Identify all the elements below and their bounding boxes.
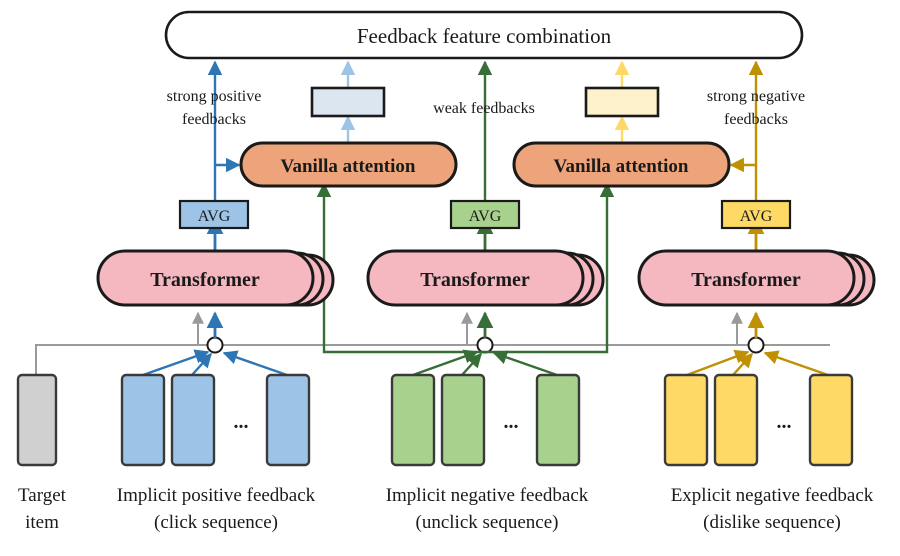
vanilla-attention-right-label: Vanilla attention bbox=[554, 156, 689, 177]
svg-text:feedbacks: feedbacks bbox=[182, 111, 246, 128]
architecture-diagram: Feedback feature combination strong posi… bbox=[0, 0, 900, 556]
input-box-click-1[interactable] bbox=[122, 375, 164, 465]
input-box-unclick-2[interactable] bbox=[442, 375, 484, 465]
ellipsis-implicit-positive: ... bbox=[234, 411, 249, 433]
transformer-positive-label: Transformer bbox=[150, 269, 260, 291]
vanilla-attention-right[interactable]: Vanilla attention bbox=[514, 143, 729, 186]
caption-implicit-positive: Implicit positive feedback (click sequen… bbox=[117, 485, 316, 533]
input-box-dislike-1[interactable] bbox=[665, 375, 707, 465]
input-boxes-implicit-positive: ... bbox=[122, 375, 309, 465]
transformer-implicit-negative-label: Transformer bbox=[420, 269, 530, 291]
transformer-positive[interactable]: Transformer bbox=[98, 251, 333, 305]
ellipsis-implicit-negative: ... bbox=[504, 411, 519, 433]
svg-text:Explicit negative feedback: Explicit negative feedback bbox=[671, 485, 874, 506]
svg-text:strong negative: strong negative bbox=[707, 88, 805, 105]
avg-block-explicit-negative-label: AVG bbox=[740, 208, 773, 225]
input-box-unclick-n[interactable] bbox=[537, 375, 579, 465]
caption-explicit-negative: Explicit negative feedback (dislike sequ… bbox=[671, 485, 874, 533]
feature-vector-weak-negative[interactable] bbox=[586, 88, 658, 116]
input-box-click-n[interactable] bbox=[267, 375, 309, 465]
svg-text:item: item bbox=[25, 512, 59, 533]
svg-text:Implicit negative feedback: Implicit negative feedback bbox=[386, 485, 589, 506]
input-boxes-explicit-negative: ... bbox=[665, 375, 852, 465]
edge-label-weak-feedbacks: weak feedbacks bbox=[433, 100, 535, 117]
svg-text:Implicit positive feedback: Implicit positive feedback bbox=[117, 485, 316, 506]
input-box-target-item[interactable] bbox=[18, 375, 56, 465]
transformer-explicit-negative-label: Transformer bbox=[691, 269, 801, 291]
svg-text:feedbacks: feedbacks bbox=[724, 111, 788, 128]
svg-text:strong positive: strong positive bbox=[167, 88, 262, 105]
vanilla-attention-left-label: Vanilla attention bbox=[281, 156, 416, 177]
input-box-dislike-n[interactable] bbox=[810, 375, 852, 465]
input-boxes-implicit-negative: ... bbox=[392, 375, 579, 465]
avg-block-explicit-negative[interactable]: AVG bbox=[722, 201, 790, 228]
avg-block-implicit-negative[interactable]: AVG bbox=[451, 201, 519, 228]
ellipsis-explicit-negative: ... bbox=[777, 411, 792, 433]
input-box-unclick-1[interactable] bbox=[392, 375, 434, 465]
svg-text:weak feedbacks: weak feedbacks bbox=[433, 100, 535, 117]
feedback-combination-label: Feedback feature combination bbox=[357, 24, 612, 48]
avg-block-positive-label: AVG bbox=[198, 208, 231, 225]
svg-text:(unclick sequence): (unclick sequence) bbox=[416, 512, 559, 533]
caption-target-item: Target item bbox=[18, 485, 67, 533]
caption-implicit-negative: Implicit negative feedback (unclick sequ… bbox=[386, 485, 589, 533]
vanilla-attention-left[interactable]: Vanilla attention bbox=[241, 143, 456, 186]
input-box-dislike-2[interactable] bbox=[715, 375, 757, 465]
transformer-implicit-negative[interactable]: Transformer bbox=[368, 251, 603, 305]
feedback-combination-bar[interactable]: Feedback feature combination bbox=[166, 12, 802, 58]
transformer-explicit-negative[interactable]: Transformer bbox=[639, 251, 874, 305]
svg-text:Target: Target bbox=[18, 485, 67, 506]
feature-vector-weak-positive[interactable] bbox=[312, 88, 384, 116]
avg-block-implicit-negative-label: AVG bbox=[469, 208, 502, 225]
svg-text:(dislike sequence): (dislike sequence) bbox=[703, 512, 841, 533]
svg-text:(click sequence): (click sequence) bbox=[154, 512, 278, 533]
input-box-click-2[interactable] bbox=[172, 375, 214, 465]
avg-block-positive[interactable]: AVG bbox=[180, 201, 248, 228]
